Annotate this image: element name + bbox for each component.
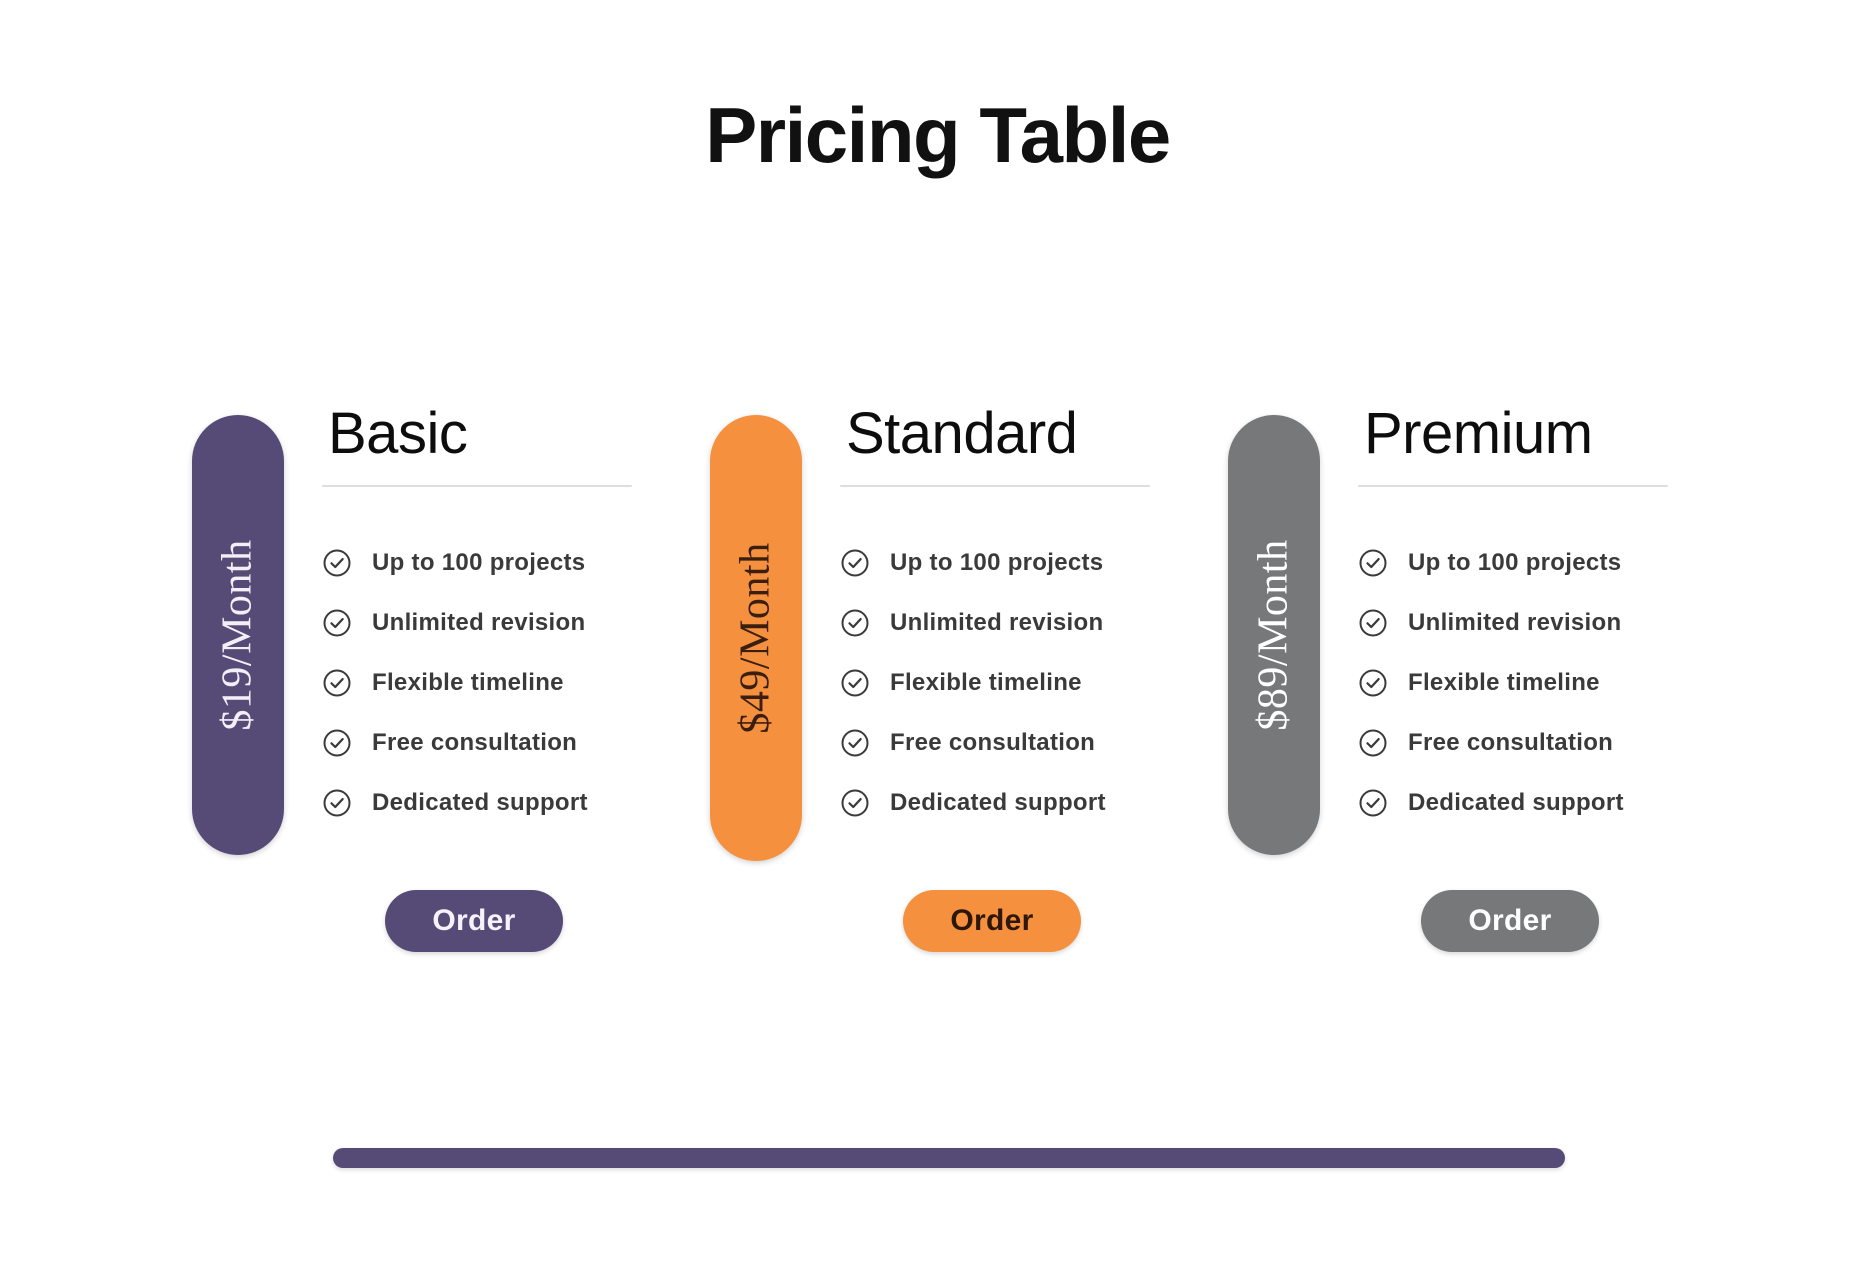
list-item: Dedicated support <box>322 773 722 833</box>
check-circle-icon <box>322 548 352 578</box>
feature-label: Unlimited revision <box>1408 609 1621 637</box>
plan-body-premium: Premium Up to 100 projects Unlimited rev… <box>1358 405 1758 849</box>
check-circle-icon <box>1358 608 1388 638</box>
page-title: Pricing Table <box>0 96 1875 174</box>
feature-label: Up to 100 projects <box>1408 549 1621 577</box>
check-circle-icon <box>840 668 870 698</box>
feature-label: Unlimited revision <box>890 609 1103 637</box>
list-item: Up to 100 projects <box>840 533 1240 593</box>
list-item: Up to 100 projects <box>1358 533 1758 593</box>
list-item: Unlimited revision <box>840 593 1240 653</box>
check-circle-icon <box>1358 668 1388 698</box>
price-pill-basic: $19/Month <box>192 415 284 855</box>
price-pill-premium: $89/Month <box>1228 415 1320 855</box>
list-item: Free consultation <box>840 713 1240 773</box>
check-circle-icon <box>1358 728 1388 758</box>
list-item: Flexible timeline <box>322 653 722 713</box>
check-circle-icon <box>840 608 870 638</box>
check-circle-icon <box>322 728 352 758</box>
pricing-card-standard: $49/Month Standard Up to 100 projects <box>710 405 1240 965</box>
plan-body-basic: Basic Up to 100 projects Unlimited revis… <box>322 405 722 849</box>
feature-list-standard: Up to 100 projects Unlimited revision Fl… <box>840 533 1240 833</box>
list-item: Free consultation <box>322 713 722 773</box>
check-circle-icon <box>322 668 352 698</box>
list-item: Flexible timeline <box>840 653 1240 713</box>
feature-list-premium: Up to 100 projects Unlimited revision Fl… <box>1358 533 1758 833</box>
feature-list-basic: Up to 100 projects Unlimited revision Fl… <box>322 533 722 833</box>
feature-label: Up to 100 projects <box>890 549 1103 577</box>
pricing-card-basic: $19/Month Basic Up to 100 projects <box>192 405 722 965</box>
check-circle-icon <box>840 728 870 758</box>
order-button-premium[interactable]: Order <box>1421 890 1599 952</box>
list-item: Unlimited revision <box>322 593 722 653</box>
plan-divider-premium <box>1358 485 1668 487</box>
list-item: Up to 100 projects <box>322 533 722 593</box>
price-label-standard: $49/Month <box>735 542 777 733</box>
plan-divider-standard <box>840 485 1150 487</box>
plan-name-premium: Premium <box>1358 405 1758 463</box>
feature-label: Up to 100 projects <box>372 549 585 577</box>
list-item: Free consultation <box>1358 713 1758 773</box>
price-pill-standard: $49/Month <box>710 415 802 861</box>
plan-name-basic: Basic <box>322 405 722 463</box>
pricing-plans-row: $19/Month Basic Up to 100 projects <box>0 405 1875 965</box>
feature-label: Free consultation <box>890 729 1095 757</box>
feature-label: Free consultation <box>372 729 577 757</box>
feature-label: Unlimited revision <box>372 609 585 637</box>
check-circle-icon <box>1358 548 1388 578</box>
feature-label: Dedicated support <box>1408 789 1624 817</box>
order-button-standard[interactable]: Order <box>903 890 1081 952</box>
plan-divider-basic <box>322 485 632 487</box>
list-item: Dedicated support <box>840 773 1240 833</box>
plan-name-standard: Standard <box>840 405 1240 463</box>
feature-label: Flexible timeline <box>890 669 1082 697</box>
check-circle-icon <box>1358 788 1388 818</box>
feature-label: Dedicated support <box>372 789 588 817</box>
footer-accent-bar <box>333 1148 1565 1168</box>
order-button-basic[interactable]: Order <box>385 890 563 952</box>
pricing-card-premium: $89/Month Premium Up to 100 projects <box>1228 405 1758 965</box>
list-item: Flexible timeline <box>1358 653 1758 713</box>
feature-label: Free consultation <box>1408 729 1613 757</box>
plan-body-standard: Standard Up to 100 projects Unlimited re… <box>840 405 1240 849</box>
price-label-premium: $89/Month <box>1253 539 1295 730</box>
check-circle-icon <box>840 788 870 818</box>
feature-label: Dedicated support <box>890 789 1106 817</box>
check-circle-icon <box>322 788 352 818</box>
check-circle-icon <box>840 548 870 578</box>
list-item: Unlimited revision <box>1358 593 1758 653</box>
feature-label: Flexible timeline <box>1408 669 1600 697</box>
price-label-basic: $19/Month <box>217 539 259 730</box>
feature-label: Flexible timeline <box>372 669 564 697</box>
list-item: Dedicated support <box>1358 773 1758 833</box>
check-circle-icon <box>322 608 352 638</box>
